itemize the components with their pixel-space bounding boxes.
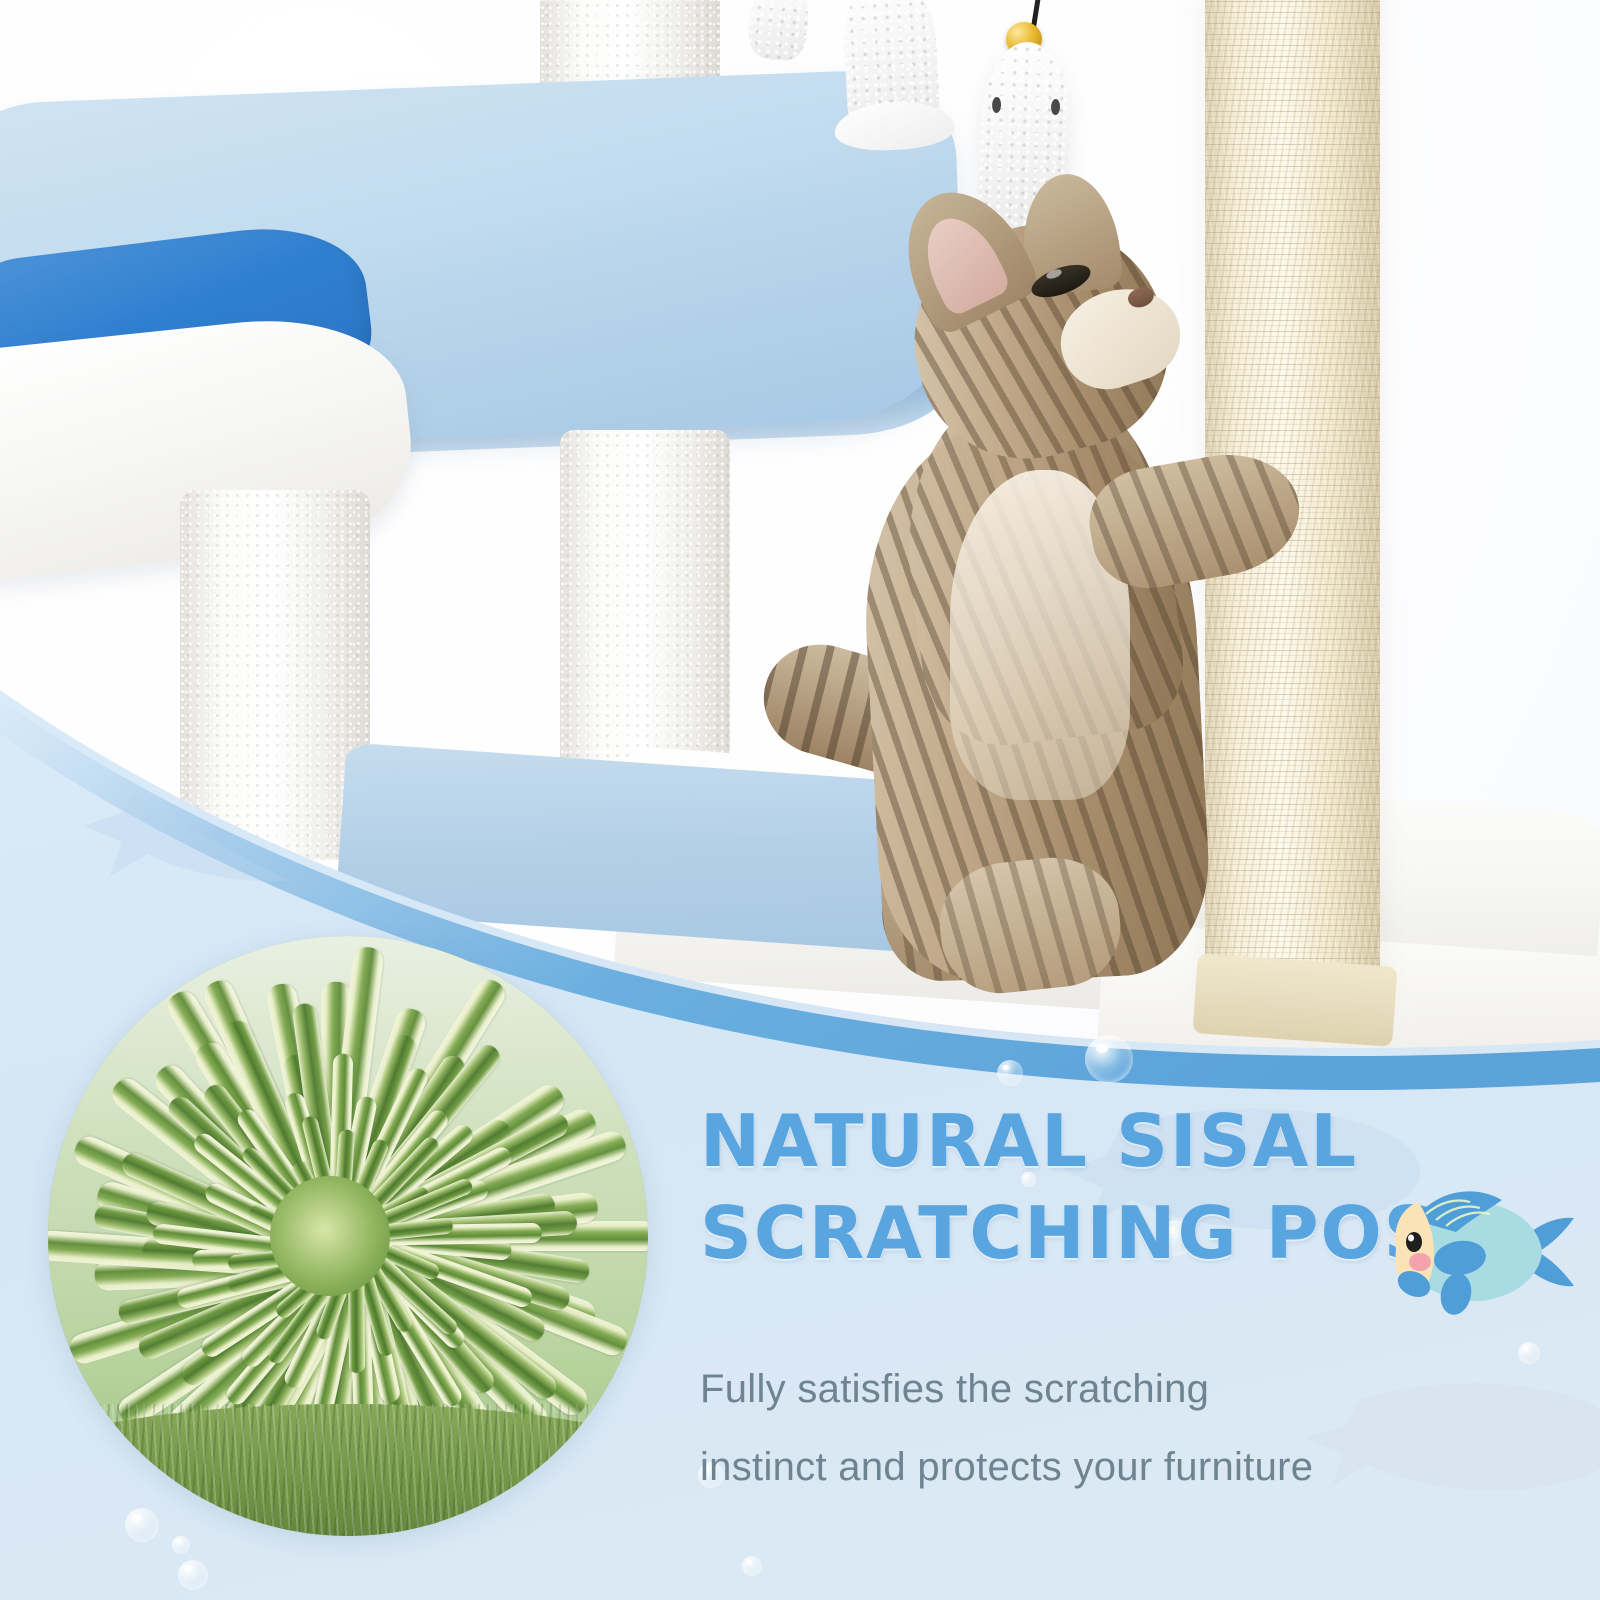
body-line-2: instinct and protects your furniture bbox=[700, 1428, 1460, 1506]
body-line-1: Fully satisfies the scratching bbox=[700, 1350, 1460, 1428]
plant-center bbox=[270, 1176, 390, 1296]
bubble-decoration bbox=[997, 1060, 1023, 1086]
body-copy: Fully satisfies the scratching instinct … bbox=[700, 1350, 1460, 1506]
bubble-decoration bbox=[742, 1556, 762, 1576]
headline-line-2: SCRATCHING POST bbox=[700, 1187, 1360, 1279]
headline: NATURAL SISAL SCRATCHING POST bbox=[700, 1095, 1360, 1279]
bubble-decoration bbox=[172, 1536, 190, 1554]
bubble-decoration bbox=[1085, 1035, 1133, 1083]
bubble-decoration bbox=[1518, 1342, 1540, 1364]
plant-grass bbox=[48, 1404, 648, 1536]
cartoon-fish-icon bbox=[1352, 1176, 1582, 1326]
bubble-decoration bbox=[178, 1560, 208, 1590]
banner-canvas: NATURAL SISAL SCRATCHING POST Fully sati… bbox=[0, 0, 1600, 1600]
headline-line-1: NATURAL SISAL bbox=[700, 1095, 1360, 1187]
sisal-plant-photo bbox=[48, 936, 648, 1536]
